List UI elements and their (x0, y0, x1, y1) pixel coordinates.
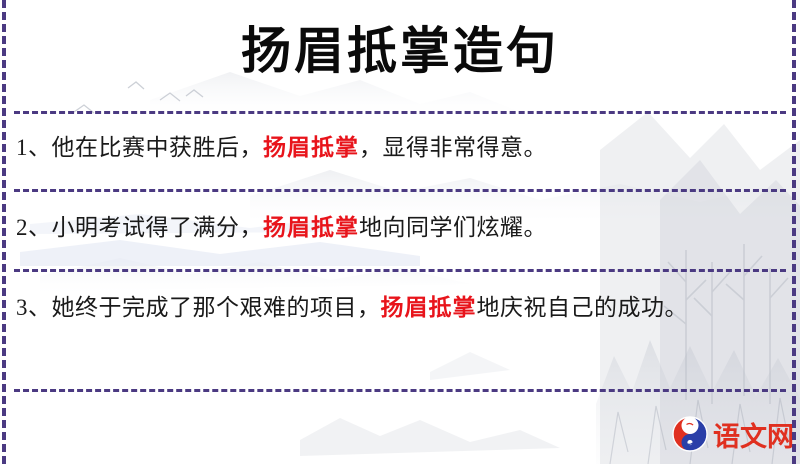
page-border-left (2, 0, 6, 464)
site-logo[interactable]: 语文网 (672, 414, 794, 454)
page-border-right (792, 0, 796, 464)
page-title: 扬眉抵掌造句 (0, 18, 800, 84)
sentence-text-before: 小明考试得了满分， (52, 215, 264, 240)
sentence-item: 3、她终于完成了那个艰难的项目，扬眉抵掌地庆祝自己的成功。 (16, 286, 786, 330)
divider-after-sentence-2 (14, 269, 786, 272)
taiji-logo-icon (672, 416, 708, 452)
sentence-number: 3、 (16, 295, 52, 320)
page-content: 扬眉抵掌造句 1、他在比赛中获胜后，扬眉抵掌，显得非常得意。 2、小明考试得了满… (0, 0, 800, 464)
sentence-item: 1、他在比赛中获胜后，扬眉抵掌，显得非常得意。 (16, 126, 786, 170)
idiom-highlight: 扬眉抵掌 (263, 214, 359, 241)
sentence-worksheet-page: 扬眉抵掌造句 1、他在比赛中获胜后，扬眉抵掌，显得非常得意。 2、小明考试得了满… (0, 0, 800, 464)
sentence-text-before: 他在比赛中获胜后， (52, 135, 264, 160)
idiom-highlight: 扬眉抵掌 (263, 134, 359, 161)
sentence-number: 2、 (16, 215, 52, 240)
divider-after-sentence-3 (14, 389, 786, 392)
divider-after-title (14, 111, 786, 114)
sentence-item: 2、小明考试得了满分，扬眉抵掌地向同学们炫耀。 (16, 206, 786, 250)
sentence-number: 1、 (16, 135, 52, 160)
idiom-highlight: 扬眉抵掌 (381, 294, 477, 321)
sentence-text-before: 她终于完成了那个艰难的项目， (52, 295, 381, 320)
site-logo-text: 语文网 (713, 415, 794, 454)
sentence-text-after: ，显得非常得意。 (359, 135, 547, 160)
sentence-text-after: 地向同学们炫耀。 (359, 215, 547, 240)
divider-after-sentence-1 (14, 189, 786, 192)
sentence-text-after: 地庆祝自己的成功。 (477, 295, 689, 320)
